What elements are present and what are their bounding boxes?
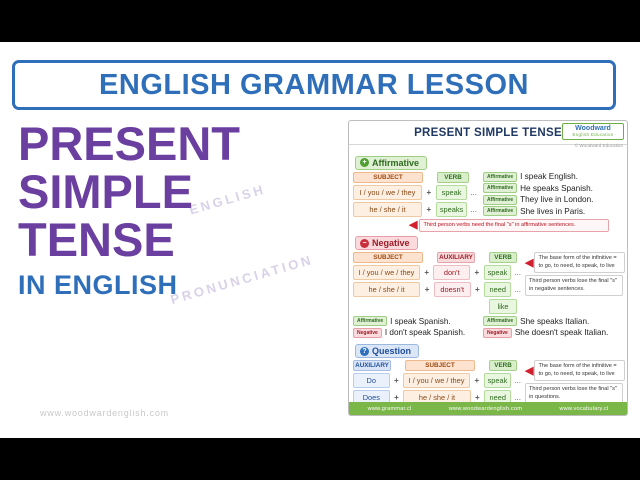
question-row1-auxiliary: Do [353,373,390,388]
plus-sign: + [393,393,401,402]
question-verb-1: speak [484,373,512,388]
affirmative-table: SUBJECT VERB I / you / we / they + speak… [353,172,477,217]
negative-row2-dots: ... [514,285,521,294]
negative-example-neg-2: She doesn't speak Italian. [515,328,609,337]
negative-col-verb: VERB [489,252,517,263]
negative-example-affirm-1: I speak Spanish. [390,317,451,326]
plus-sign: + [474,285,482,294]
video-frame: ENGLISH GRAMMAR LESSON PRESENT SIMPLE TE… [0,0,640,480]
negative-verb-2: need [484,282,511,297]
affirmative-row2-verb: speaks [436,202,468,217]
question-row1-subject: I / you / we / they [403,373,470,388]
slide-canvas: ENGLISH GRAMMAR LESSON PRESENT SIMPLE TE… [0,42,640,438]
negative-table: SUBJECT AUXILIARY VERB I / you / we / th… [353,252,521,314]
footer-link-grammar: www.grammar.cl [368,406,412,412]
affirmative-row1-dots: ... [470,188,477,197]
footer-link-vocabulary: www.vocabulary.cl [559,406,608,412]
negative-note-1: The base form of the infinitive = to go,… [534,252,625,273]
left-arrow-icon: ◀ [409,222,417,228]
tag-affirmative: Affirmative [483,183,517,193]
list-item: Affirmative He speaks Spanish. [483,183,593,193]
plus-sign: + [423,268,431,277]
plus-sign: + [425,188,433,197]
tag-affirmative: Affirmative [353,316,387,326]
affirmative-example-4: She lives in Paris. [520,207,585,216]
list-item: Affirmative I speak Spanish. [353,316,477,326]
tag-affirmative: Affirmative [483,206,517,216]
plus-icon: + [360,158,369,167]
affirmative-col-subject: SUBJECT [353,172,423,183]
section-negative-header: − Negative [355,236,418,250]
question-icon: ? [360,347,369,356]
negative-row1-auxiliary: don't [433,265,470,280]
section-question-label: Question [372,346,411,356]
plus-sign: + [473,268,481,277]
plus-sign: + [425,205,433,214]
affirmative-row2-dots: ... [470,205,477,214]
affirmative-example-2: He speaks Spanish. [520,184,593,193]
negative-example-affirm-2: She speaks Italian. [520,317,589,326]
section-affirmative-label: Affirmative [372,158,419,168]
page-title-line-1: PRESENT [18,120,338,168]
section-question-header: ? Question [355,344,419,358]
page-title: PRESENT SIMPLE TENSE IN ENGLISH [18,120,338,301]
negative-row2-auxiliary: doesn't [434,282,471,297]
question-col-verb: VERB [489,360,517,371]
list-item: Affirmative She speaks Italian. [483,316,607,326]
affirmative-note: Third person verbs need the final "s" in… [419,219,609,232]
tag-affirmative: Affirmative [483,172,517,182]
section-negative: − Negative SUBJECT AUXILIARY VERB I [349,232,627,338]
affirmative-examples: Affirmative I speak English. Affirmative… [483,172,593,217]
tag-affirmative: Affirmative [483,195,517,205]
banner-title: ENGLISH GRAMMAR LESSON [99,69,529,102]
plus-sign: + [473,376,481,385]
poster-title-bar: PRESENT SIMPLE TENSE Woodward English Ed… [349,121,627,145]
grammar-poster: PRESENT SIMPLE TENSE Woodward English Ed… [348,120,628,416]
question-note-1: The base form of the infinitive = to go,… [534,360,625,381]
plus-sign: + [393,376,401,385]
affirmative-row2-subject: he / she / it [353,202,422,217]
question-row1-dots: ... [514,376,521,385]
minus-icon: − [360,239,369,248]
negative-example-neg-1: I don't speak Spanish. [385,328,465,337]
list-item: Affirmative She lives in Paris. [483,206,593,216]
left-arrow-icon: ◀ [525,368,533,374]
negative-verb-1: speak [484,265,512,280]
footer-link-woodwardenglish: www.woodwardenglish.com [449,406,522,412]
plus-sign: + [474,393,482,402]
negative-col-auxiliary: AUXILIARY [437,252,475,263]
logo-line-2: English Education [572,132,613,138]
affirmative-example-1: I speak English. [520,172,578,181]
lesson-banner: ENGLISH GRAMMAR LESSON [12,60,616,110]
plus-sign: + [423,285,431,294]
poster-credit: © Woodward Education [575,143,623,148]
left-arrow-icon: ◀ [525,260,533,266]
tag-negative: Negative [483,328,512,338]
negative-row2-subject: he / she / it [353,282,420,297]
negative-note-2: Third person verbs lose the final "s" in… [525,275,623,296]
section-affirmative-header: + Affirmative [355,156,427,170]
list-item: Affirmative They live in London. [483,195,593,205]
affirmative-example-3: They live in London. [520,195,593,204]
page-subtitle: IN ENGLISH [18,270,338,301]
list-item: Affirmative I speak English. [483,172,593,182]
poster-footer: www.grammar.cl www.woodwardenglish.com w… [349,402,627,415]
question-col-auxiliary: AUXILIARY [353,360,391,371]
site-url: www.woodwardenglish.com [40,408,169,418]
logo-line-1: Woodward [575,125,611,132]
negative-examples: Affirmative I speak Spanish. Negative I … [353,316,623,338]
woodward-logo: Woodward English Education [562,123,624,140]
negative-row1-dots: ... [514,268,521,277]
section-affirmative: + Affirmative SUBJECT VERB I / you / we … [349,151,627,232]
negative-verb-3: like [489,299,517,314]
tag-negative: Negative [353,328,382,338]
poster-title: PRESENT SIMPLE TENSE [414,127,562,139]
negative-row1-subject: I / you / we / they [353,265,420,280]
page-title-line-2: SIMPLE [18,168,338,216]
affirmative-col-verb: VERB [437,172,469,183]
page-title-line-3: TENSE [18,216,338,264]
question-col-subject: SUBJECT [405,360,475,371]
list-item: Negative I don't speak Spanish. [353,328,477,338]
section-negative-label: Negative [372,238,410,248]
affirmative-row1-verb: speak [436,185,468,200]
tag-affirmative: Affirmative [483,316,517,326]
question-row2-dots: ... [514,393,521,402]
negative-col-subject: SUBJECT [353,252,423,263]
affirmative-row1-subject: I / you / we / they [353,185,422,200]
list-item: Negative She doesn't speak Italian. [483,328,607,338]
